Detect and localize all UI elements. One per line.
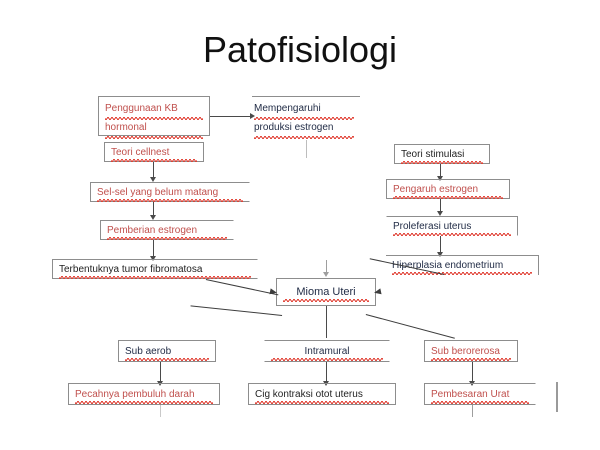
node-intramural-label: Intramural <box>271 345 383 358</box>
connector-mioma-to-sub-aerob <box>191 305 283 316</box>
node-pembesaran-urat[interactable]: Pembesaran Urat <box>424 383 536 405</box>
node-teori-stimulasi-label: Teori stimulasi <box>401 148 483 161</box>
node-teori-stimulasi[interactable]: Teori stimulasi <box>394 144 490 164</box>
node-proleferasi-label: Proleferasi uterus <box>393 220 511 233</box>
node-pembesaran-label: Pembesaran Urat <box>431 388 529 401</box>
node-sel-sel-belum-matang[interactable]: Sel-sel yang belum matang <box>90 182 250 202</box>
slide-canvas: Patofisiologi Penggunaan KB hormonal Mem… <box>0 0 600 450</box>
connector-mempengaruhi-stub <box>306 140 307 158</box>
connector-sub-aerob-to-pecahnya <box>160 362 161 383</box>
node-hiperplasia-label: Hiperplasia endometrium <box>392 259 532 272</box>
node-mempengaruhi-produksi-estrogen[interactable]: Mempengaruhi produksi estrogen <box>252 96 360 138</box>
node-pecahnya-label: Pecahnya pembuluh darah <box>75 388 213 401</box>
node-sub-berorerosa[interactable]: Sub berorerosa <box>424 340 518 362</box>
node-pengaruh-estrogen[interactable]: Pengaruh estrogen <box>386 179 510 199</box>
node-cig-kontraksi-otot-uterus[interactable]: Cig kontraksi otot uterus <box>248 383 396 405</box>
node-hiperplasia-endometrium[interactable]: Hiperplasia endometrium <box>386 255 538 275</box>
node-penggunaan-kb-line2: hormonal <box>105 120 203 136</box>
node-pengaruh-estrogen-label: Pengaruh estrogen <box>393 183 503 196</box>
connector-pecahnya-stub <box>160 405 161 417</box>
arrowhead-top-to-mioma <box>323 272 329 277</box>
connector-sub-berorerosa-to-pembesaran <box>472 362 473 383</box>
node-penggunaan-kb-hormonal[interactable]: Penggunaan KB hormonal <box>98 96 210 136</box>
node-teori-cellnest-label: Teori cellnest <box>111 146 197 159</box>
node-mioma-uteri[interactable]: Mioma Uteri <box>276 278 376 306</box>
node-mempengaruhi-line1: Mempengaruhi <box>254 101 354 117</box>
connector-mioma-to-intramural <box>326 306 327 338</box>
node-proleferasi-uterus[interactable]: Proleferasi uterus <box>386 216 518 236</box>
node-sub-aerob-label: Sub aerob <box>125 345 209 358</box>
node-cig-kontraksi-label: Cig kontraksi otot uterus <box>255 388 389 401</box>
node-terbentuknya-tumor-fibromatosa[interactable]: Terbentuknya tumor fibromatosa <box>52 259 258 279</box>
node-sub-aerob[interactable]: Sub aerob <box>118 340 216 362</box>
arrowhead-terbentuknya-to-mioma <box>269 288 277 295</box>
connector-intramural-to-cig <box>326 362 327 383</box>
node-penggunaan-kb-line1: Penggunaan KB <box>105 101 203 117</box>
node-teori-cellnest[interactable]: Teori cellnest <box>104 142 204 162</box>
connector-mioma-to-sub-berorerosa <box>366 314 455 339</box>
node-terbentuknya-label: Terbentuknya tumor fibromatosa <box>59 263 251 276</box>
connector-penggunaan-to-mempengaruhi <box>210 116 250 117</box>
node-pecahnya-pembuluh-darah[interactable]: Pecahnya pembuluh darah <box>68 383 220 405</box>
node-mempengaruhi-line2: produksi estrogen <box>254 120 354 136</box>
node-sel-sel-label: Sel-sel yang belum matang <box>97 186 243 199</box>
connector-terbentuknya-to-mioma <box>206 279 279 295</box>
node-pemberian-estrogen[interactable]: Pemberian estrogen <box>100 220 234 240</box>
page-title: Patofisiologi <box>0 28 600 72</box>
node-sub-berorerosa-label: Sub berorerosa <box>431 345 511 358</box>
right-margin-rule <box>556 382 558 412</box>
node-intramural[interactable]: Intramural <box>264 340 390 362</box>
arrowhead-hiperplasia-to-mioma <box>373 288 381 295</box>
connector-hiperplasia-right-edge <box>538 255 539 275</box>
node-mioma-uteri-label: Mioma Uteri <box>283 286 369 299</box>
node-pemberian-estrogen-label: Pemberian estrogen <box>107 224 227 237</box>
connector-pembesaran-stub <box>472 405 473 417</box>
